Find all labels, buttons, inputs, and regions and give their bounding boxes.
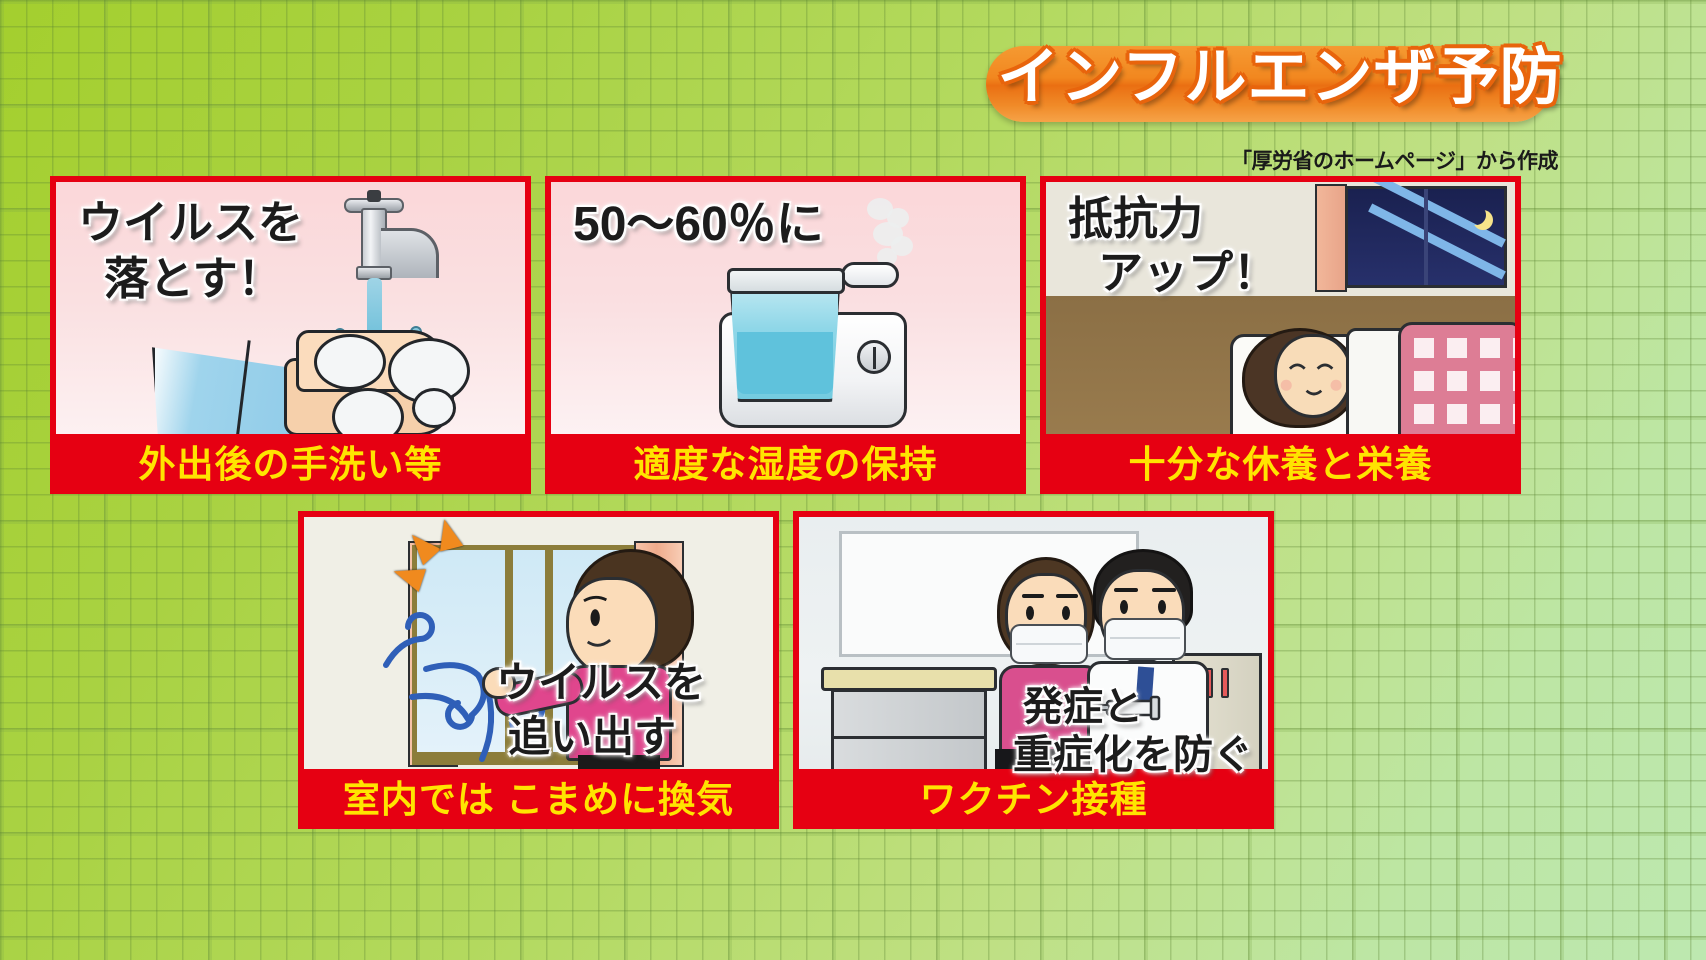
illustration-hand-washing: ウイルスを 落とす！ bbox=[56, 182, 525, 446]
vaccine-vial-icon bbox=[1221, 668, 1229, 698]
panel-vaccination: 発症と 重症化を防ぐ ワクチン接種 bbox=[793, 511, 1274, 829]
overlay-text-line2: 重症化を防ぐ bbox=[1013, 733, 1253, 778]
face-mask-icon bbox=[1104, 618, 1186, 660]
illustration-humidifier: 50〜60％に bbox=[551, 182, 1020, 446]
exam-bed-base bbox=[831, 689, 987, 781]
overlay-text-line2: アップ！ bbox=[1098, 248, 1278, 298]
doctor-face bbox=[1099, 569, 1185, 663]
patient-face bbox=[1005, 573, 1087, 665]
overlay-text-line2: 追い出す bbox=[508, 713, 676, 760]
exam-bed-top bbox=[821, 667, 997, 691]
source-attribution: 「厚労省のホームページ」から作成 bbox=[1231, 145, 1558, 175]
panel-humidity: 50〜60％に 適度な湿度の保持 bbox=[545, 176, 1026, 494]
futon-checked-blanket bbox=[1398, 322, 1515, 446]
sleeper-face bbox=[1274, 334, 1352, 418]
night-window-icon bbox=[1345, 186, 1507, 288]
overlay-text-line1: 50〜60％に bbox=[573, 198, 824, 252]
soap-bubble-icon bbox=[314, 334, 386, 390]
illustration-ventilation: ウイルスを 追い出す bbox=[304, 517, 773, 781]
page-title: インフルエンザ予防 bbox=[980, 40, 1580, 116]
humidifier-dial-icon bbox=[857, 340, 891, 374]
overlay-text-line1: 発症と bbox=[1023, 685, 1143, 730]
overlay-text-line1: ウイルスを bbox=[78, 198, 303, 248]
humidifier-tank-lid bbox=[727, 268, 845, 294]
panel-rest: 抵抗力 アップ！ 十分な休養と栄養 bbox=[1040, 176, 1521, 494]
panel-caption: 適度な湿度の保持 bbox=[551, 434, 1020, 488]
humidifier-water-level bbox=[737, 332, 833, 394]
panel-caption: 室内では こまめに換気 bbox=[304, 769, 773, 823]
panel-caption: 外出後の手洗い等 bbox=[56, 434, 525, 488]
face-mask-icon bbox=[1010, 624, 1088, 664]
humidifier-cap bbox=[841, 262, 899, 288]
overlay-text-line1: ウイルスを bbox=[496, 659, 706, 706]
faucet-knob-icon bbox=[367, 190, 381, 202]
illustration-sleeping: 抵抗力 アップ！ bbox=[1046, 182, 1515, 446]
panel-ventilation: ウイルスを 追い出す 室内では こまめに換気 bbox=[298, 511, 779, 829]
overlay-text-line2: 落とす！ bbox=[104, 254, 283, 304]
soap-bubble-icon bbox=[412, 388, 456, 428]
panel-wash-hands: ウイルスを 落とす！ 外出後の手洗い等 bbox=[50, 176, 531, 494]
panel-caption: 十分な休養と栄養 bbox=[1046, 434, 1515, 488]
curtain-icon bbox=[1315, 184, 1347, 292]
overlay-text-line1: 抵抗力 bbox=[1068, 194, 1203, 244]
illustration-vaccination: 発症と 重症化を防ぐ bbox=[799, 517, 1268, 781]
moon-icon bbox=[1466, 205, 1486, 225]
